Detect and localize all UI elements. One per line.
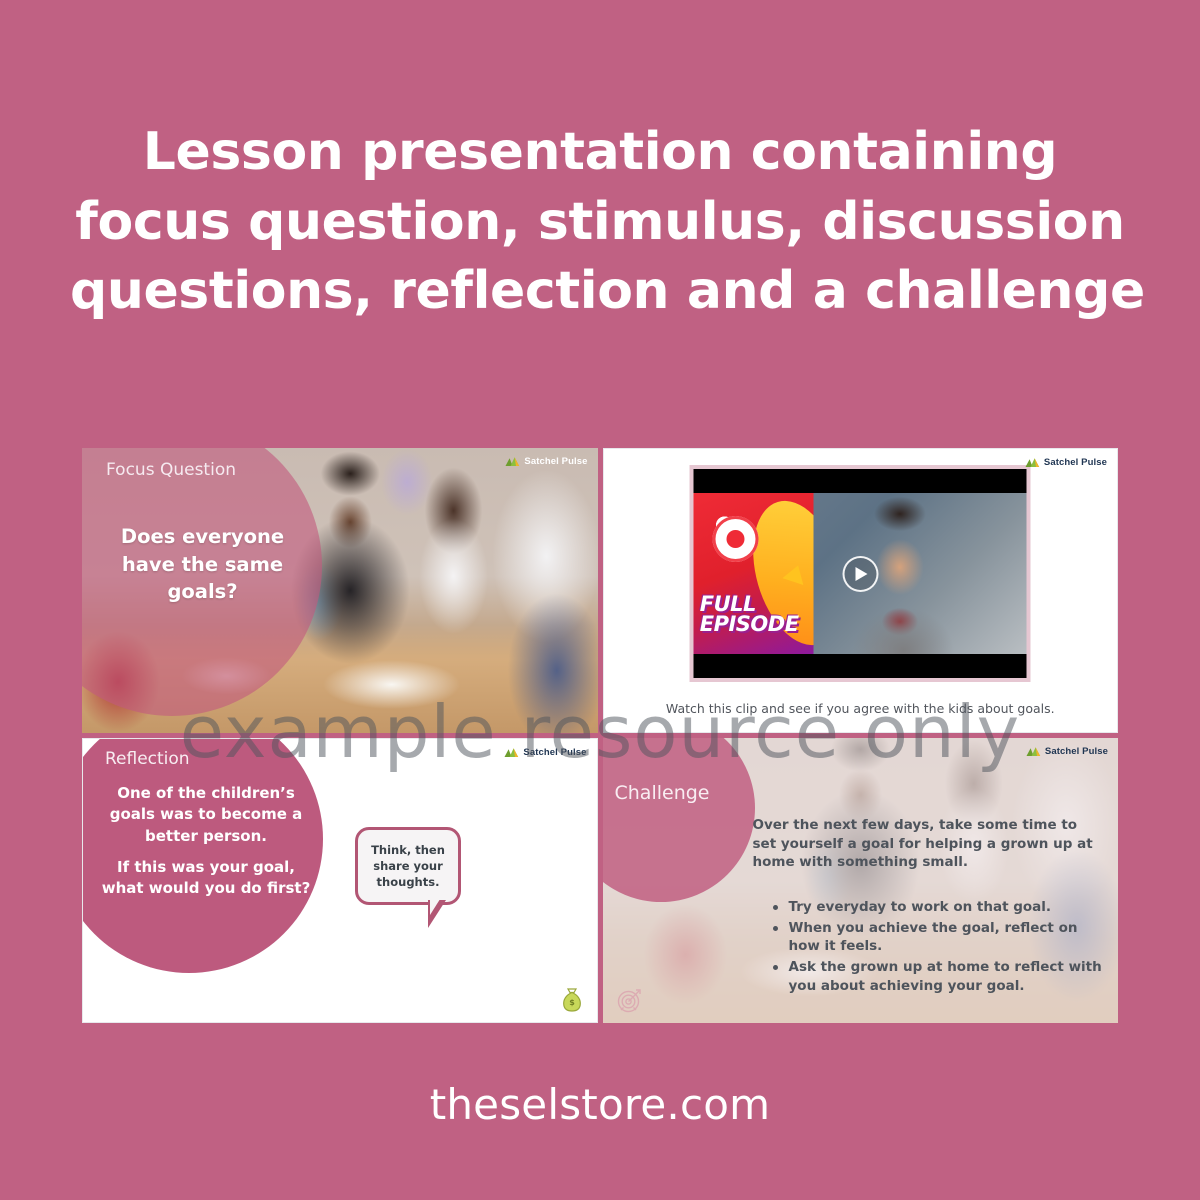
target-icon [615, 985, 645, 1015]
page-title: Lesson presentation containing focus que… [0, 118, 1200, 327]
satchel-pulse-logo-text: Satchel Pulse [524, 456, 587, 467]
mountain-icon [1026, 746, 1041, 757]
play-icon[interactable] [842, 556, 878, 592]
mountain-icon [1025, 457, 1040, 468]
full-episode-badge: FULL EPISODE [694, 493, 814, 654]
speech-bubble-text: Think, then share your thoughts. [358, 842, 458, 891]
mountain-icon [505, 456, 520, 467]
satchel-pulse-logo-text: Satchel Pulse [1045, 746, 1108, 757]
slide-label-challenge: Challenge [615, 782, 710, 804]
slide-reflection[interactable]: Satchel Pulse Reflection One of the chil… [82, 738, 598, 1023]
satchel-pulse-logo-text: Satchel Pulse [523, 747, 586, 758]
video-embed[interactable]: FULL EPISODE [690, 465, 1031, 682]
challenge-bullet-list: Try everyday to work on that goal. When … [771, 898, 1107, 997]
reflection-body: One of the children’s goals was to becom… [101, 783, 311, 899]
challenge-bullet: When you achieve the goal, reflect on ho… [771, 919, 1107, 956]
slide-challenge[interactable]: Satchel Pulse Challenge Over the next fe… [603, 738, 1119, 1023]
page-title-line-3: questions, reflection and a challenge [70, 257, 1130, 327]
footer-site-url: theselstore.com [0, 1080, 1200, 1129]
challenge-bullet: Ask the grown up at home to reflect with… [771, 958, 1107, 995]
challenge-intro: Over the next few days, take some time t… [753, 816, 1105, 872]
svg-text:$: $ [569, 998, 575, 1007]
speech-bubble-tail [428, 900, 446, 928]
mountain-icon [504, 747, 519, 758]
page-title-line-1: Lesson presentation containing [70, 118, 1130, 188]
slide-focus-question[interactable]: Satchel Pulse Focus Question Does everyo… [82, 448, 598, 733]
satchel-pulse-logo: Satchel Pulse [1026, 746, 1108, 757]
speech-bubble: Think, then share your thoughts. [355, 827, 461, 905]
focus-question-text: Does everyone have the same goals? [100, 523, 305, 606]
reflection-paragraph-1: One of the children’s goals was to becom… [101, 783, 311, 847]
broadcaster-logo-icon [713, 516, 759, 562]
challenge-bullet: Try everyday to work on that goal. [771, 898, 1107, 917]
slide-label-focus-question: Focus Question [106, 460, 236, 480]
slide-label-reflection: Reflection [105, 749, 190, 769]
satchel-pulse-logo: Satchel Pulse [505, 456, 587, 467]
money-bag-icon: $ [561, 986, 583, 1012]
slide-preview-grid: Satchel Pulse Focus Question Does everyo… [82, 448, 1118, 1023]
satchel-pulse-logo: Satchel Pulse [1025, 457, 1107, 468]
page-title-line-2: focus question, stimulus, discussion [70, 188, 1130, 258]
slide-stimulus-video[interactable]: Satchel Pulse FULL EPISODE Watch this cl… [603, 448, 1119, 733]
video-caption: Watch this clip and see if you agree wit… [604, 701, 1118, 716]
satchel-pulse-logo-text: Satchel Pulse [1044, 457, 1107, 468]
reflection-paragraph-2: If this was your goal, what would you do… [101, 857, 311, 900]
badge-text: FULL EPISODE [700, 595, 799, 634]
badge-text-line-2: EPISODE [700, 612, 799, 636]
satchel-pulse-logo: Satchel Pulse [504, 747, 586, 758]
